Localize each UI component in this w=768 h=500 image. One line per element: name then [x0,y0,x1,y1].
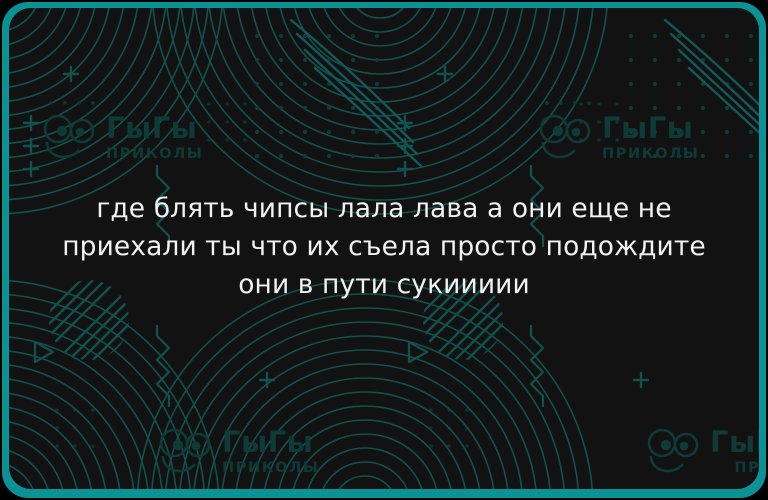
dot-cluster-d [429,408,469,448]
watermark-title: ГыГы [106,114,203,143]
watermark-text: ГыГы ПРИКОЛЫ [222,428,319,476]
diagonal-streaks-left [291,20,421,166]
meme-caption: где блять чипсы лала лава а они еще не п… [0,190,768,304]
gygy-face-logo-icon [645,426,701,478]
watermark-subtitle: ПРИКОЛЫ [602,147,699,162]
watermark-top-left: ГыГы ПРИКОЛЫ [41,112,203,164]
watermark-dots-icon [543,98,603,108]
watermark-title: ГыГы [222,428,319,457]
watermark-bottom-right: ГыГы ПРИКО [645,426,759,478]
watermark-dots-icon [47,98,107,108]
gygy-face-logo-icon [157,426,213,478]
watermark-subtitle: ПРИКОЛЫ [222,461,319,476]
watermark-subtitle: ПРИКОЛЫ [106,147,203,162]
caption-line-3: они в пути сукиииии [0,266,768,304]
zigzag-lower-right [531,326,543,406]
arc-decor-top-center [152,8,608,214]
watermark-title: ГыГы [710,428,759,457]
dot-grid-top-left [255,34,379,158]
play-triangle-right [409,342,427,362]
watermark-title: ГыГы [602,114,699,143]
zigzag-lower-left [157,326,169,406]
watermark-bottom-left: ГыГы ПРИКОЛЫ [157,426,319,478]
gygy-face-logo-icon [537,112,593,164]
watermark-text: ГыГы ПРИКОЛЫ [106,114,203,162]
dot-cluster-c [55,408,95,448]
watermark-text: ГыГы ПРИКО [710,428,759,476]
watermark-top-right: ГыГы ПРИКОЛЫ [537,112,699,164]
meme-card: ГыГы ПРИКОЛЫ ГыГы [0,0,768,500]
dot-cluster-a [207,102,247,142]
play-triangle-left [35,342,53,362]
caption-line-2: приехали ты что их съела просто подождит… [0,228,768,266]
gygy-face-logo-icon [41,112,97,164]
watermark-subtitle: ПРИКО [710,461,759,476]
watermark-text: ГыГы ПРИКОЛЫ [602,114,699,162]
caption-line-1: где блять чипсы лала лава а они еще не [0,190,768,228]
